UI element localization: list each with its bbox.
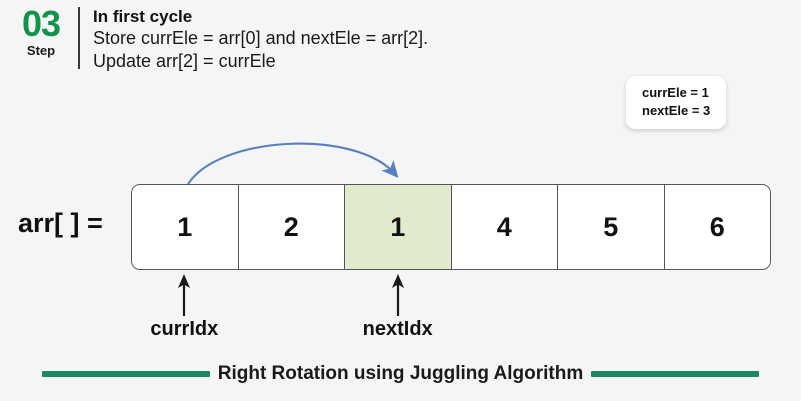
header-line-2: Store currEle = arr[0] and nextEle = arr… <box>93 27 428 50</box>
array-cell: 1 <box>345 185 452 269</box>
array-cell: 4 <box>452 185 559 269</box>
variables-info-card: currEle = 1 nextEle = 3 <box>626 76 726 129</box>
pointer-arrow-nextidx <box>388 272 408 316</box>
array-cell: 5 <box>558 185 665 269</box>
rotation-curved-arrow <box>150 130 430 192</box>
header-title: In first cycle <box>93 6 428 27</box>
next-ele-value: nextEle = 3 <box>642 102 710 120</box>
header-line-3: Update arr[2] = currEle <box>93 50 428 73</box>
array-cell: 2 <box>239 185 346 269</box>
footer-rule-left <box>42 371 210 377</box>
header-divider <box>78 7 80 69</box>
header-text-block: In first cycle Store currEle = arr[0] an… <box>93 4 428 73</box>
pointer-label-curridx: currIdx <box>84 318 284 341</box>
step-number: 03 <box>12 6 70 42</box>
footer-rule-right <box>591 371 759 377</box>
array-cell: 1 <box>132 185 239 269</box>
footer-caption: Right Rotation using Juggling Algorithm <box>218 363 584 385</box>
step-indicator: 03 Step <box>12 4 70 59</box>
footer: Right Rotation using Juggling Algorithm <box>0 363 801 385</box>
slide-canvas: 03 Step In first cycle Store currEle = a… <box>0 0 801 401</box>
curr-ele-value: currEle = 1 <box>642 84 710 102</box>
array-container: 121456 <box>131 184 771 270</box>
step-label: Step <box>12 43 70 59</box>
pointer-label-nextidx: nextIdx <box>298 318 498 341</box>
array-cell: 6 <box>665 185 771 269</box>
header: 03 Step In first cycle Store currEle = a… <box>12 4 428 73</box>
pointer-arrow-curridx <box>174 272 194 316</box>
array-label: arr[ ] = <box>18 208 103 239</box>
